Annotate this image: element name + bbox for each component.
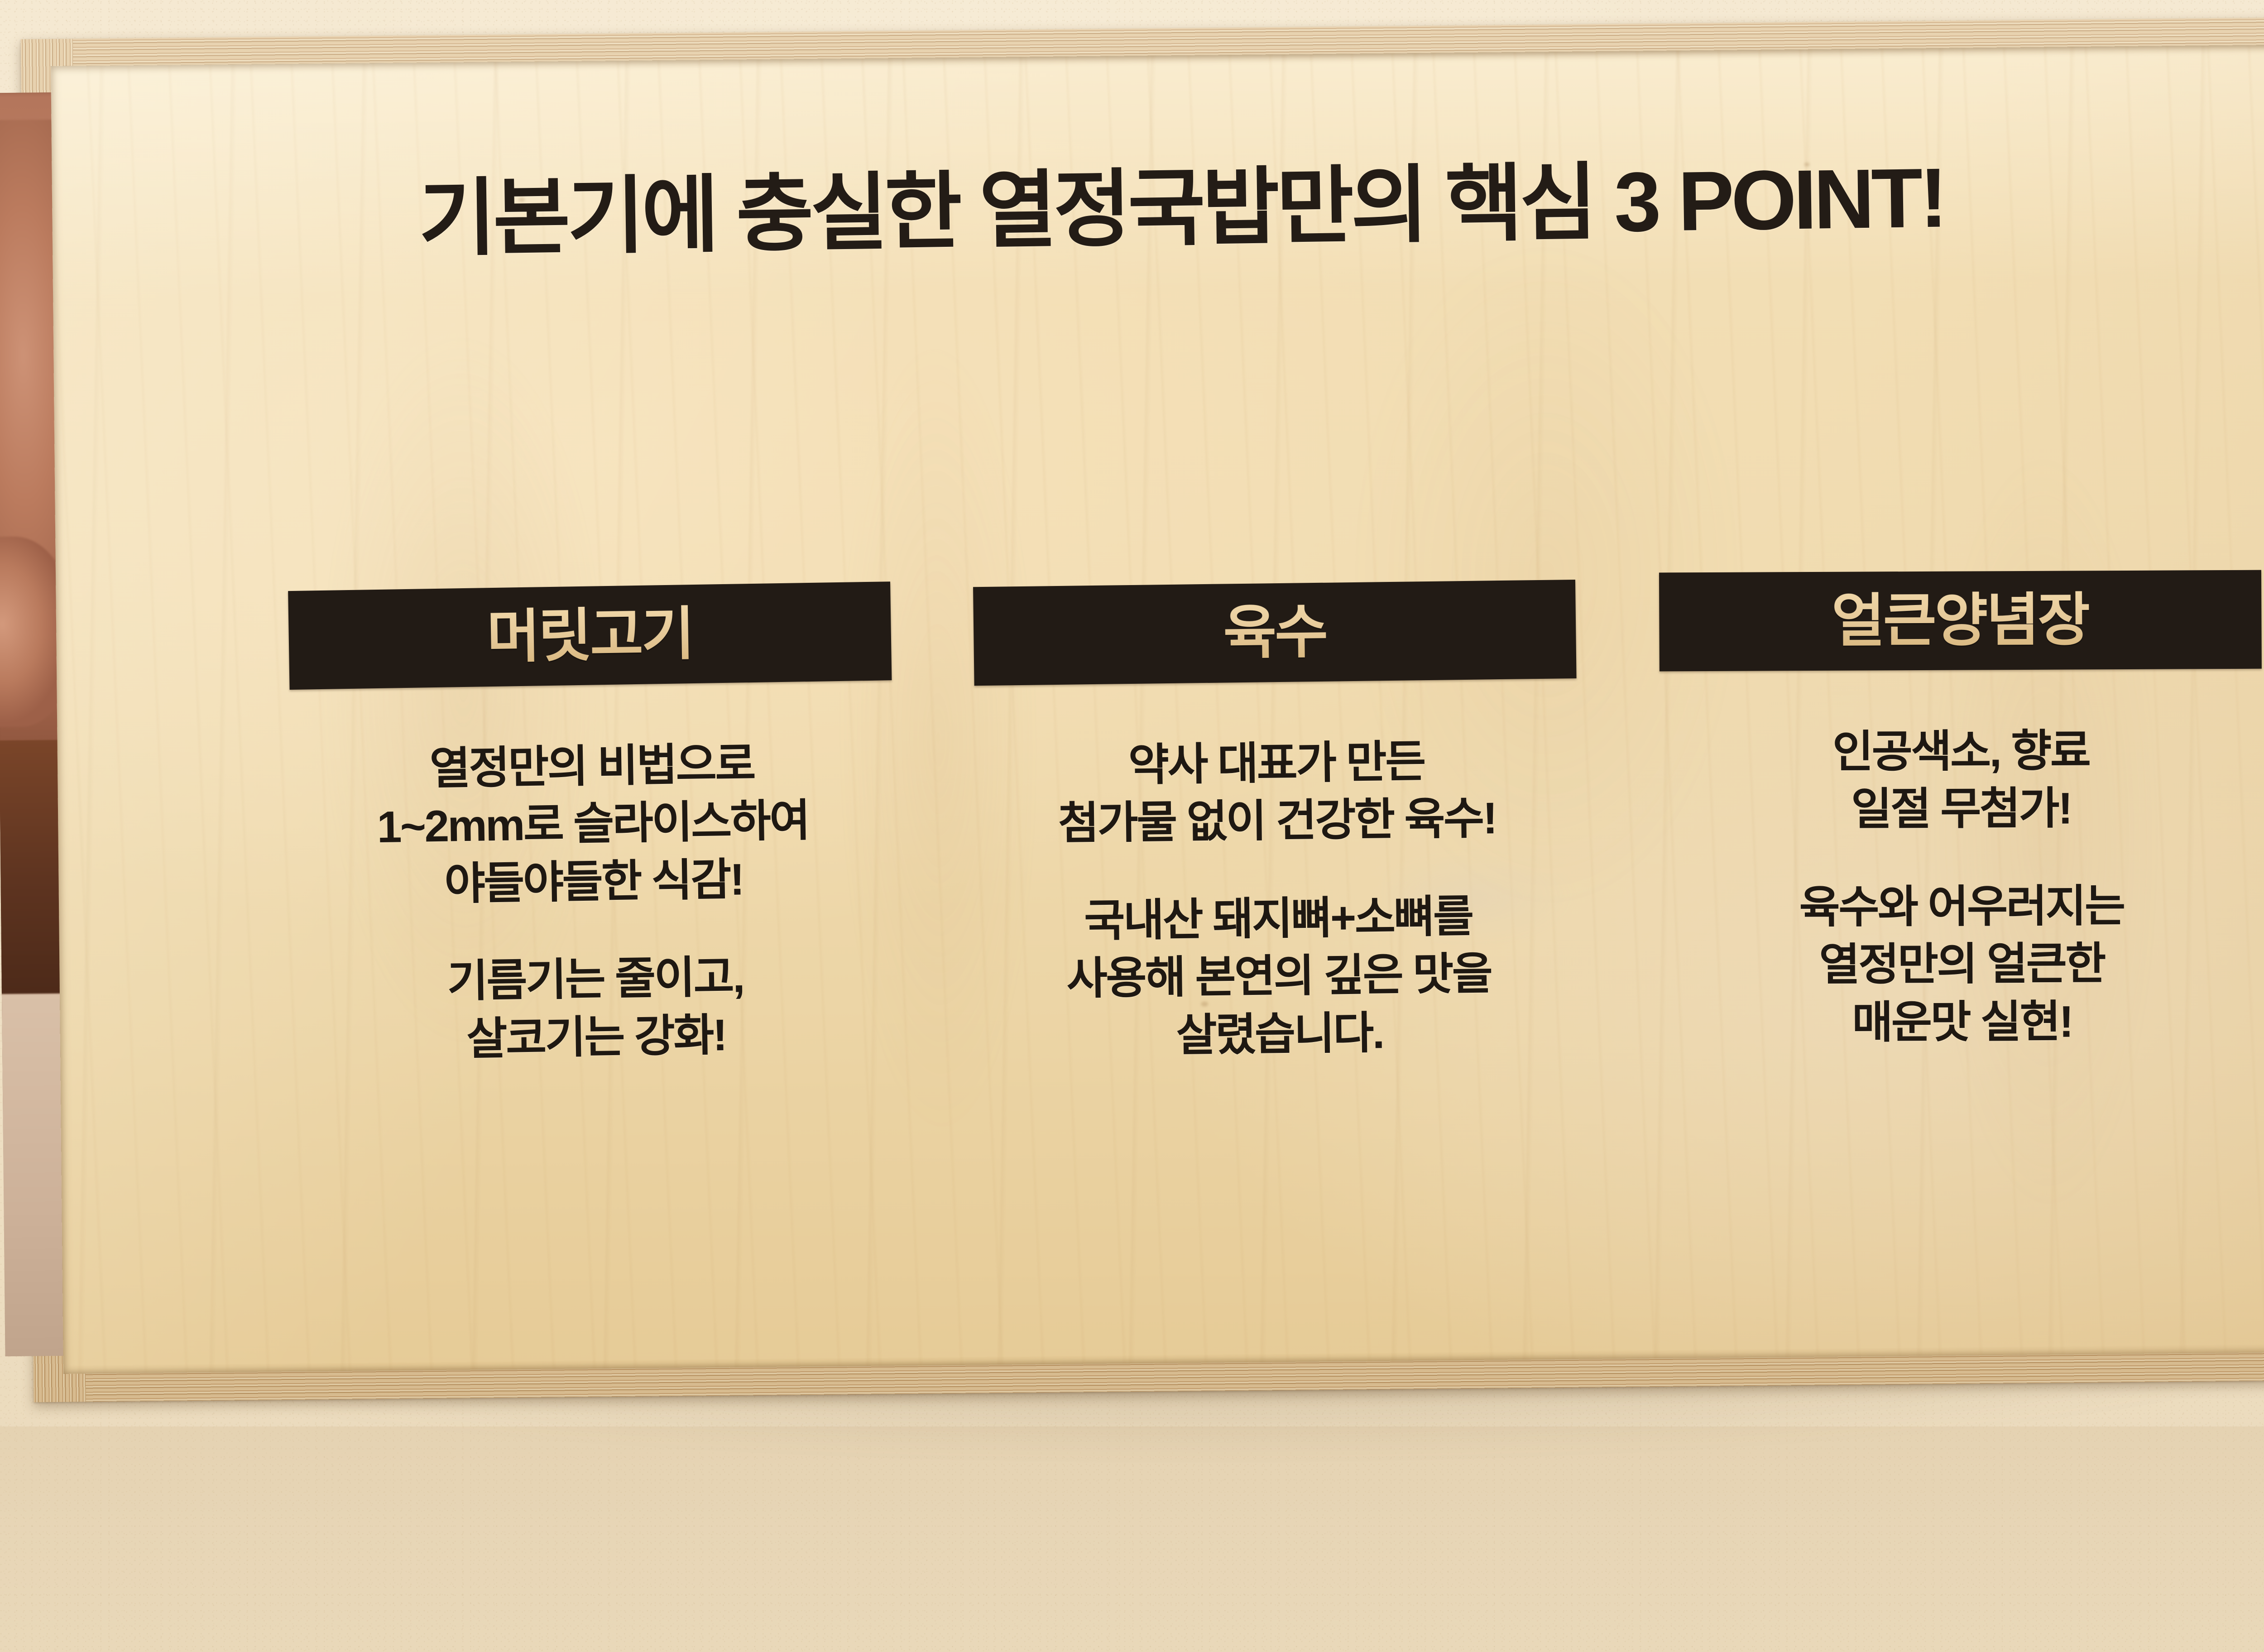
sign-content: 기본기에 충실한 열정국밥만의 핵심 3 POINT! 머릿고기 열정만의 비법…	[51, 44, 2264, 1374]
column-header-bar-3: 얼큰양념장	[1659, 570, 2262, 672]
point-column-meorit-gogi: 머릿고기 열정만의 비법으로 1~2mm로 슬라이스하여 야들야들한 식감! 기…	[288, 581, 897, 1071]
column-blurb-3-a: 인공색소, 향료 일절 무첨가!	[1660, 721, 2262, 840]
sign-title: 기본기에 충실한 열정국밥만의 핵심 3 POINT!	[52, 124, 2264, 278]
column-blurb-3-b: 육수와 어우러지는 열정만의 얼큰한 매운맛 실현!	[1660, 876, 2264, 1052]
point-column-yuksu: 육수 약사 대표가 만든 첨가물 없이 건강한 육수! 국내산 돼지뼈+소뼈를 …	[973, 580, 1581, 1066]
point-columns: 머릿고기 열정만의 비법으로 1~2mm로 슬라이스하여 야들야들한 식감! 기…	[289, 570, 2264, 1069]
column-header-label-3: 얼큰양념장	[1832, 591, 2089, 650]
column-header-bar-1: 머릿고기	[288, 581, 892, 690]
column-blurb-2-a: 약사 대표가 만든 첨가물 없이 건강한 육수!	[975, 731, 1578, 854]
column-header-label-2: 육수	[1223, 603, 1327, 663]
column-blurb-1-a: 열정만의 비법으로 1~2mm로 슬라이스하여 야들야들한 식감!	[290, 733, 895, 915]
signage-scene: 기본기에 충실한 열정국밥만의 핵심 3 POINT! 머릿고기 열정만의 비법…	[0, 0, 2264, 1652]
column-header-label-1: 머릿고기	[486, 605, 693, 666]
plywood-sign-board: 기본기에 충실한 열정국밥만의 핵심 3 POINT! 머릿고기 열정만의 비법…	[21, 17, 2264, 1402]
point-column-eolkeun-yangnyeomjang: 얼큰양념장 인공색소, 향료 일절 무첨가! 육수와 어우러지는 열정만의 얼큰…	[1659, 570, 2264, 1052]
column-blurb-1-b: 기름기는 줄이고, 살코기는 강화!	[294, 946, 898, 1071]
column-header-bar-2: 육수	[973, 580, 1577, 686]
column-blurb-2-b: 국내산 돼지뼈+소뼈를 사용해 본연의 깊은 맛을 살렸습니다.	[977, 886, 1581, 1066]
sign-face-panel: 기본기에 충실한 열정국밥만의 핵심 3 POINT! 머릿고기 열정만의 비법…	[51, 44, 2264, 1374]
